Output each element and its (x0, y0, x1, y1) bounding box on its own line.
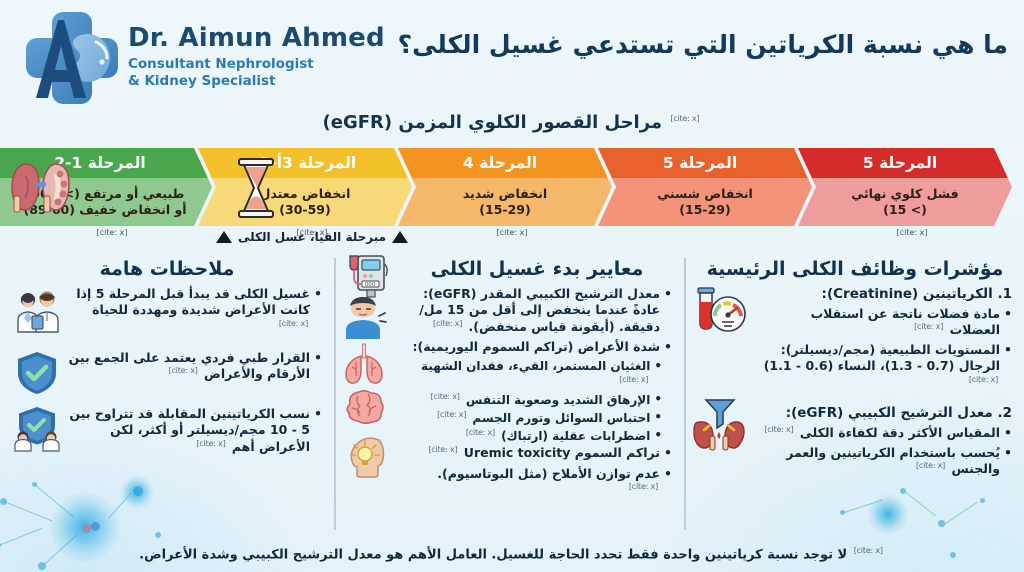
column-dialysis-criteria: معايير بدء غسيل الكلى 000 (334, 258, 686, 530)
head-idea-icon (340, 434, 388, 478)
indicator-cite: [cite: x] (762, 425, 795, 435)
stage-cite: [cite: x] (812, 228, 1012, 242)
column-title: ملاحظات هامة (12, 258, 322, 280)
note-text-value: نسب الكرياتينين المقابلة قد تتراوح بين 5… (69, 406, 310, 454)
stage-chevron-4[interactable]: المرحلة 4 انخفاض شديد (15-29) (398, 148, 612, 226)
brand-subtitle: Consultant Nephrologist & Kidney Special… (128, 56, 385, 91)
criteria-icon-strip: 000 (340, 254, 392, 520)
indicator-block: 1. الكرياتينين (Creatinine): • مادة فضلا… (760, 286, 1012, 391)
content-columns: ملاحظات هامة (0, 258, 1024, 530)
criteria-sub-cite: [cite: x] (429, 392, 462, 402)
kidney-anatomy-icon (8, 156, 74, 218)
bullet-dot: • (1004, 425, 1012, 441)
criteria-sub-cite: [cite: x] (435, 410, 468, 420)
note-text: القرار طبي فردي يعتمد على الجمع بين الأر… (68, 350, 310, 398)
criteria-cite: [cite: x] (426, 445, 459, 455)
criteria-text: معدل الترشيح الكبيبي المقدر (eGFR): عادة… (400, 286, 660, 335)
indicator-bullet-value: مادة فضلات ناتجة عن استقلاب العضلات (811, 306, 1000, 337)
criteria-sub-text-value: اضطرابات عقلية (ارتباك) (501, 429, 650, 443)
stage-chevron-5-severe[interactable]: المرحلة 5 انخفاض شسني (15-29) (598, 148, 812, 226)
dialysis-start-marker: مبرحلة القيا، غسل الكلى (0, 230, 824, 244)
bullet-dot: • (1004, 342, 1012, 391)
bullet-dot: • (654, 359, 662, 391)
stage-desc-line2: (> 15) (883, 202, 927, 218)
criteria-text: شدة الأعراض (تراكم السموم اليوريمية): (400, 339, 660, 355)
brand-name: Dr. Aimun Ahmed (128, 24, 385, 53)
indicator-bullet: • مادة فضلات ناتجة عن استقلاب العضلات [c… (760, 306, 1012, 339)
footer-cite: [cite: x] (852, 546, 885, 555)
indicator-bullet-text: يُحسب باستخدام الكرياتينين والعمر والجنس… (760, 445, 1000, 478)
criteria-text-value: عدم توازن الأملاح (مثل البوتاسيوم). (437, 466, 660, 481)
stage-desc-line2: (15-29) (479, 202, 530, 218)
stages-heading-cite: [cite: x] (668, 114, 701, 123)
stage-name: المرحلة 3أ-3ب (198, 148, 412, 178)
bullet-dot: • (664, 466, 672, 499)
brand-logo (18, 8, 126, 108)
indicator-block: 2. معدل الترشيح الكبيبي (eGFR): • المقيا… (760, 405, 1012, 478)
stage-desc-line2: (15-29) (679, 202, 730, 218)
stage-name: المرحلة 5 (798, 148, 1012, 178)
note-text: غسيل الكلى قد يبدأ قبل المرحلة 5 إذا كان… (68, 286, 310, 342)
criteria-sub-text-value: احتباس السوائل وتورم الجسم (472, 411, 650, 425)
bullet-dot: • (664, 445, 672, 461)
indicator-icon-strip (690, 284, 752, 504)
indicator-bullet-text: المستويات الطبيعية (مجم/ديسيلتر): الرجال… (760, 342, 1000, 391)
triangle-marker-left-icon (392, 231, 408, 243)
criteria-sub-item: • الغثيان المستمر، القيء، فقدان الشهية [… (400, 359, 662, 391)
stages-heading: [cite: x] مراحل القصور الكلوي المزمن (eG… (0, 112, 1024, 133)
column-important-notes: ملاحظات هامة (0, 258, 334, 530)
footer-note: [cite: x] لا توجد نسبة كرياتينين واحدة ف… (0, 546, 1024, 562)
dialysis-machine-icon: 000 (340, 254, 388, 298)
criteria-sub-text: احتباس السوائل وتورم الجسم [cite: x] (400, 410, 650, 427)
bullet-dot: • (1004, 306, 1012, 339)
ckd-stage-bar: المرحلة 1-2 طبيعي أو مرتفع (>= 90) أو ان… (0, 148, 1024, 226)
stage-desc-line1: انخفاض شديد (463, 186, 547, 202)
stage-desc-line1: انخفاض شسني (657, 186, 753, 202)
lungs-icon (340, 342, 388, 386)
criteria-sub-cite: [cite: x] (617, 375, 650, 385)
indicator-bullet-value: يُحسب باستخدام الكرياتينين والعمر والجنس (786, 445, 1000, 476)
bullet-dot: • (314, 286, 322, 342)
note-item: • القرار طبي فردي يعتمد على الجمع بين ال… (12, 350, 322, 398)
criteria-sub-item: • الإرهاق الشديد وصعوبة التنفس [cite: x] (400, 392, 662, 409)
stage-desc: فشل كلوي نهائي (> 15) (798, 178, 1012, 226)
svg-text:000: 000 (365, 282, 376, 288)
stages-heading-text: مراحل القصور الكلوي المزمن (eGFR) (323, 112, 663, 133)
bullet-dot: • (314, 350, 322, 398)
brand-subtitle-line2: & Kidney Specialist (128, 73, 385, 90)
criteria-item: • معدل الترشيح الكبيبي المقدر (eGFR): عا… (400, 286, 672, 335)
column-title: معايير بدء غسيل الكلى (348, 258, 672, 280)
two-doctors-icon (12, 288, 62, 334)
indicator-bullet-value: المستويات الطبيعية (مجم/ديسيلتر): الرجال… (764, 342, 1000, 373)
stage-desc-line2: (30-59) (279, 202, 330, 218)
note-item: • غسيل الكلى قد يبدأ قبل المرحلة 5 إذا ك… (12, 286, 322, 342)
criteria-item: • تراكم السموم Uremic toxicity [cite: x] (400, 445, 672, 461)
criteria-cite: [cite: x] (627, 482, 660, 492)
triangle-marker-right-icon (216, 231, 232, 243)
note-text: نسب الكرياتينين المقابلة قد تتراوح بين 5… (68, 406, 310, 455)
criteria-sub-text-value: الإرهاق الشديد وصعوبة التنفس (466, 393, 650, 407)
criteria-text-value: تراكم السموم Uremic toxicity (464, 445, 660, 460)
criteria-text: تراكم السموم Uremic toxicity [cite: x] (400, 445, 660, 461)
criteria-sub-list: • الغثيان المستمر، القيء، فقدان الشهية [… (400, 359, 672, 444)
bullet-dot: • (654, 410, 662, 427)
stage-desc: انخفاض شسني (15-29) (598, 178, 812, 226)
indicator-heading: 1. الكرياتينين (Creatinine): (760, 286, 1012, 304)
sick-patient-icon (340, 296, 388, 340)
indicator-bullet-text: مادة فضلات ناتجة عن استقلاب العضلات [cit… (760, 306, 1000, 339)
stage-name: المرحلة 5 (598, 148, 812, 178)
brand-subtitle-line1: Consultant Nephrologist (128, 56, 385, 73)
stage-chevron-5-esrd[interactable]: المرحلة 5 فشل كلوي نهائي (> 15) (798, 148, 1012, 226)
indicator-cite: [cite: x] (967, 375, 1000, 385)
dialysis-start-marker-label: مبرحلة القيا، غسل الكلى (238, 230, 386, 244)
note-text-value: غسيل الكلى قد يبدأ قبل المرحلة 5 إذا كان… (76, 286, 310, 317)
shield-doctors-icon (12, 406, 62, 452)
criteria-sub-text-value: الغثيان المستمر، القيء، فقدان الشهية (421, 359, 650, 373)
stage-desc-line1: فشل كلوي نهائي (851, 186, 958, 202)
criteria-sub-item: • اضطرابات عقلية (ارتباك) [cite: x] (400, 428, 662, 445)
blood-test-gauge-icon (690, 284, 748, 342)
note-cite: [cite: x] (194, 439, 227, 449)
bullet-dot: • (654, 428, 662, 445)
bullet-dot: • (664, 339, 672, 355)
shield-check-icon (12, 350, 62, 396)
kidney-filter-icon (690, 394, 748, 452)
stage-chevron-3a-3b[interactable]: المرحلة 3أ-3ب انخفاض معتدل (30-59) (198, 148, 412, 226)
kidney-cross-logo-icon (18, 8, 126, 108)
bullet-dot: • (1004, 445, 1012, 478)
bullet-dot: • (314, 406, 322, 455)
stage-desc: انخفاض شديد (15-29) (398, 178, 612, 226)
footer-text: لا توجد نسبة كرياتينين واحدة فقط تحدد ال… (139, 547, 847, 562)
indicator-cite: [cite: x] (914, 461, 947, 471)
column-kidney-indicators: مؤشرات وظائف الكلى الرئيسية (686, 258, 1024, 530)
criteria-text: عدم توازن الأملاح (مثل البوتاسيوم). [cit… (400, 466, 660, 499)
criteria-sub-cite: [cite: x] (464, 428, 497, 438)
stage-desc: انخفاض معتدل (30-59) (198, 178, 412, 226)
indicator-bullet: • المستويات الطبيعية (مجم/ديسيلتر): الرج… (760, 342, 1012, 391)
indicator-bullet: • المقياس الأكثر دقة لكفاءة الكلى [cite:… (760, 425, 1012, 441)
criteria-cite: [cite: x] (431, 319, 464, 329)
stage-name: المرحلة 4 (398, 148, 612, 178)
note-cite: [cite: x] (167, 366, 200, 376)
hourglass-icon (236, 158, 276, 218)
bullet-dot: • (654, 392, 662, 409)
indicator-heading: 2. معدل الترشيح الكبيبي (eGFR): (760, 405, 1012, 423)
bullet-dot: • (664, 286, 672, 335)
criteria-item: • عدم توازن الأملاح (مثل البوتاسيوم). [c… (400, 466, 672, 499)
brand-text: Dr. Aimun Ahmed Consultant Nephrologist … (128, 24, 385, 90)
indicator-bullet: • يُحسب باستخدام الكرياتينين والعمر والج… (760, 445, 1012, 478)
indicator-bullet-value: المقياس الأكثر دقة لكفاءة الكلى (800, 425, 1000, 440)
brain-icon (340, 388, 388, 432)
column-title: مؤشرات وظائف الكلى الرئيسية (698, 258, 1012, 280)
criteria-sub-text: الإرهاق الشديد وصعوبة التنفس [cite: x] (400, 392, 650, 409)
page-header: Dr. Aimun Ahmed Consultant Nephrologist … (0, 0, 1024, 108)
note-item: • نسب الكرياتينين المقابلة قد تتراوح بين… (12, 406, 322, 455)
criteria-sub-item: • احتباس السوائل وتورم الجسم [cite: x] (400, 410, 662, 427)
indicator-cite: [cite: x] (912, 322, 945, 332)
note-cite: [cite: x] (277, 319, 310, 329)
criteria-item: • شدة الأعراض (تراكم السموم اليوريمية): (400, 339, 672, 355)
page-title: ما هي نسبة الكرياتين التي تستدعي غسيل ال… (398, 30, 1008, 59)
criteria-sub-text: اضطرابات عقلية (ارتباك) [cite: x] (400, 428, 650, 445)
criteria-sub-text: الغثيان المستمر، القيء، فقدان الشهية [ci… (400, 359, 650, 391)
indicator-bullet-text: المقياس الأكثر دقة لكفاءة الكلى [cite: x… (760, 425, 1000, 441)
